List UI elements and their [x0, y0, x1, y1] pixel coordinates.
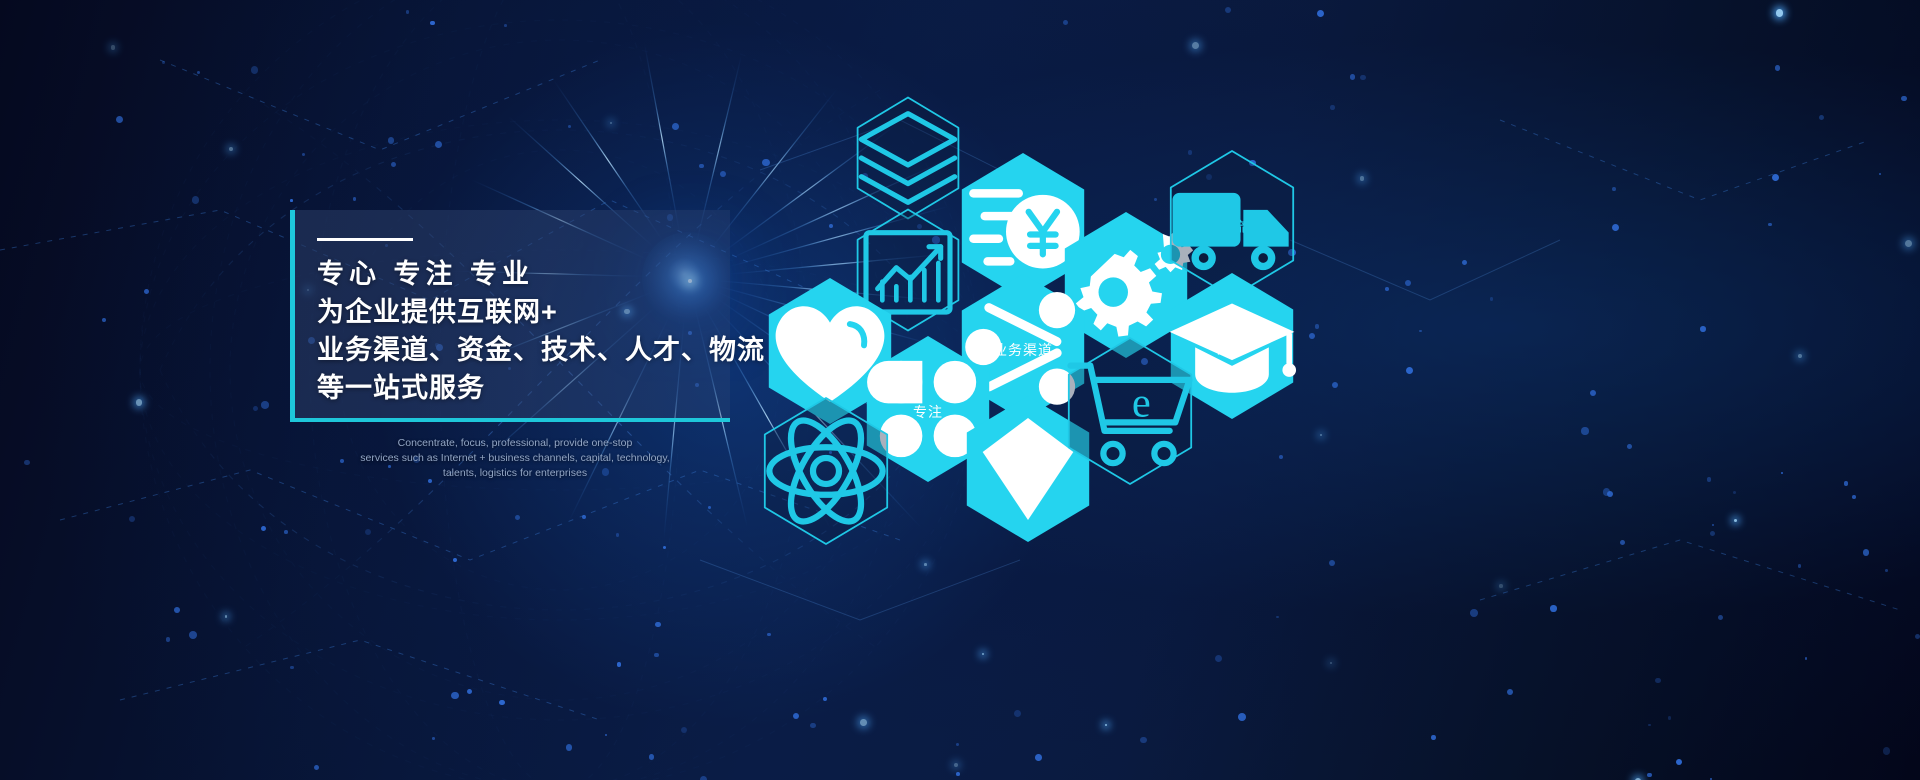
- hexagon-layers[interactable]: [852, 95, 964, 221]
- headline-rule: [317, 238, 413, 241]
- headline-line-4: 等一站式服务: [317, 369, 730, 407]
- english-subtitle: Concentrate, focus, professional, provid…: [300, 436, 730, 481]
- hero-banner: 专心 专注 专业 为企业提供互联网+ 业务渠道、资金、技术、人才、物流 等一站式…: [0, 0, 1920, 780]
- english-line-2: services such as Internet + business cha…: [300, 451, 730, 466]
- headline-line-3: 业务渠道、资金、技术、人才、物流: [317, 331, 730, 369]
- headline-line-1: 专心 专注 专业: [317, 255, 730, 293]
- english-line-3: talents, logistics for enterprises: [300, 466, 730, 481]
- headline-panel: 专心 专注 专业 为企业提供互联网+ 业务渠道、资金、技术、人才、物流 等一站式…: [290, 210, 730, 422]
- hexagon-cart[interactable]: e: [1062, 335, 1198, 487]
- headline-line-2: 为企业提供互联网+: [317, 293, 730, 331]
- english-line-1: Concentrate, focus, professional, provid…: [300, 436, 730, 451]
- hexagon-atom[interactable]: [758, 395, 894, 547]
- hexagon-cluster: 资金技术物流人才业务渠道专心专注专业e: [740, 95, 1320, 525]
- svg-text:e: e: [1132, 380, 1151, 427]
